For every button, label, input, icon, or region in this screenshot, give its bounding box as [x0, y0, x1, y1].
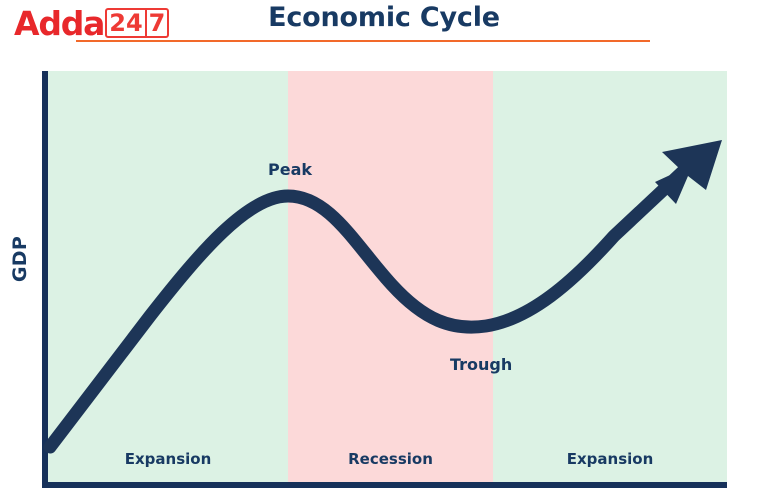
- infographic-page: Adda 24 7 Economic Cycle GDP Peak Trough…: [0, 0, 768, 496]
- band-recession: [288, 71, 493, 482]
- band-expansion-2: [493, 71, 727, 482]
- band-label-expansion-1: Expansion: [48, 450, 288, 468]
- peak-label: Peak: [268, 160, 312, 179]
- economic-cycle-chart: GDP Peak Trough Expansion Recession Expa…: [0, 0, 768, 496]
- trough-label: Trough: [450, 355, 512, 374]
- band-label-recession: Recession: [288, 450, 493, 468]
- band-expansion-1: [48, 71, 288, 482]
- y-axis-line: [42, 71, 48, 488]
- x-axis-line: [42, 482, 727, 488]
- y-axis-label: GDP: [9, 223, 31, 295]
- band-label-expansion-2: Expansion: [493, 450, 727, 468]
